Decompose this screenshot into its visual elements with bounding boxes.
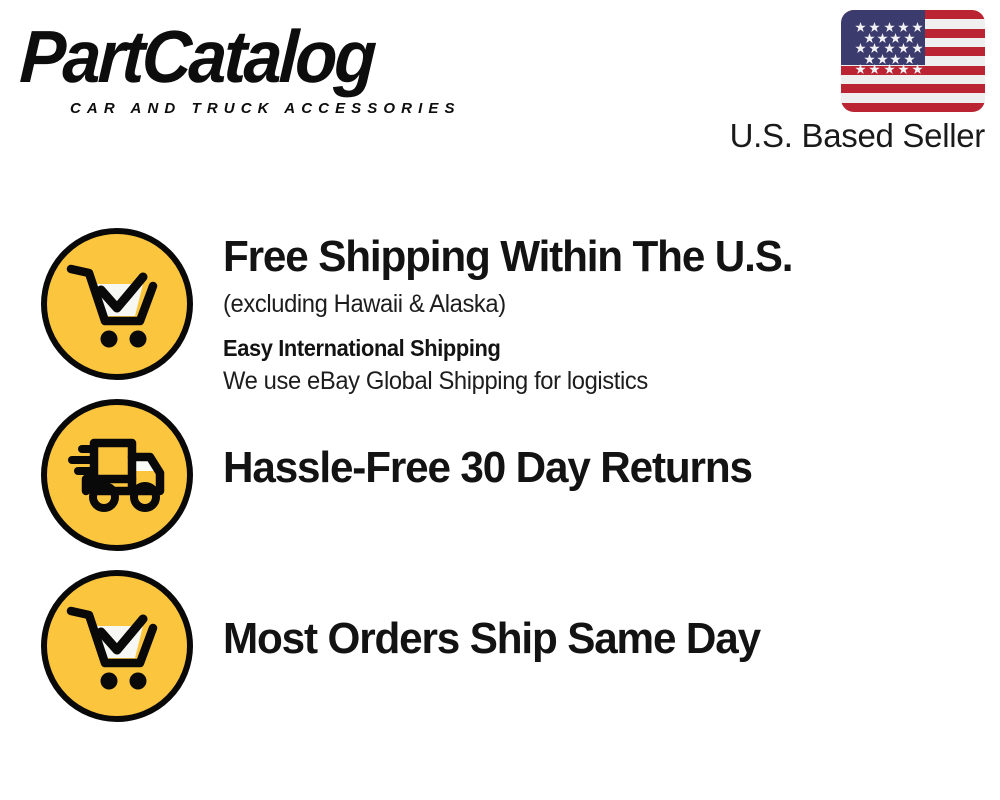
- feature-row-same-day-ship: Most Orders Ship Same Day: [0, 570, 1000, 722]
- flag-star-row: [848, 17, 919, 28]
- us-based-seller-label: U.S. Based Seller: [723, 116, 985, 156]
- flag-stripe: [841, 93, 985, 102]
- us-flag-icon: [841, 10, 985, 112]
- feature-headline: Free Shipping Within The U.S.: [223, 232, 969, 282]
- feature-row-returns: Hassle-Free 30 Day Returns: [0, 399, 1000, 551]
- brand-tagline: CAR AND TRUCK ACCESSORIES: [70, 100, 461, 118]
- shopping-cart-check-icon: [41, 570, 193, 722]
- delivery-truck-icon: [41, 399, 193, 551]
- feature-headline: Most Orders Ship Same Day: [223, 614, 969, 664]
- feature-text-block: Hassle-Free 30 Day Returns: [223, 399, 1000, 493]
- feature-subline-strong: Easy International Shipping: [223, 333, 961, 363]
- flag-stripe: [841, 75, 985, 84]
- partcatalog-logo: PartCatalog CAR AND TRUCK ACCESSORIES: [22, 18, 492, 118]
- feature-row-free-shipping: Free Shipping Within The U.S. (excluding…: [0, 228, 1000, 397]
- feature-text-block: Most Orders Ship Same Day: [223, 570, 1000, 664]
- feature-headline: Hassle-Free 30 Day Returns: [223, 443, 969, 493]
- flag-stripe: [841, 103, 985, 112]
- feature-subline-last: We use eBay Global Shipping for logistic…: [223, 365, 961, 397]
- shopping-cart-check-icon: [41, 228, 193, 380]
- flag-canton: [841, 10, 925, 65]
- banner-header: PartCatalog CAR AND TRUCK ACCESSORIES: [0, 0, 1000, 175]
- brand-wordmark: PartCatalog: [18, 18, 375, 96]
- feature-subline: (excluding Hawaii & Alaska): [223, 288, 961, 320]
- flag-stripe: [841, 84, 985, 93]
- feature-text-block: Free Shipping Within The U.S. (excluding…: [223, 228, 1000, 397]
- seller-info-banner: PartCatalog CAR AND TRUCK ACCESSORIES: [0, 0, 1000, 800]
